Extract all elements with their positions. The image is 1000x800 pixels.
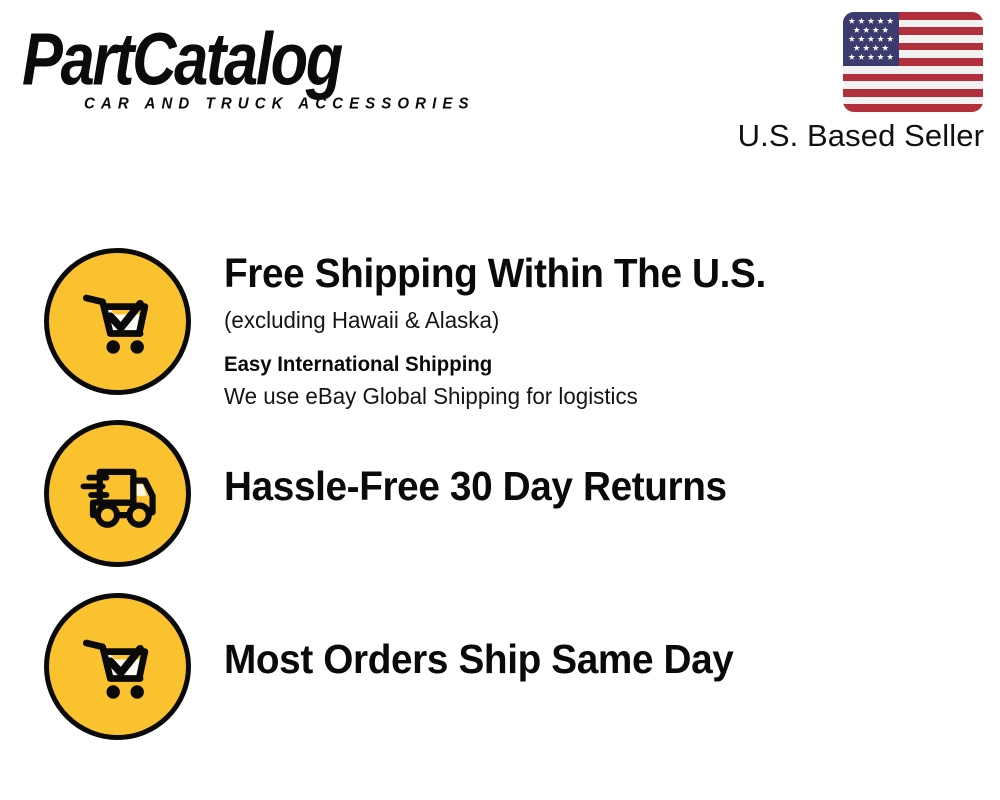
us-flag-icon [843, 12, 983, 112]
feature-title: Hassle-Free 30 Day Returns [224, 463, 727, 510]
delivery-truck-icon [44, 420, 191, 567]
logo-tagline: CAR AND TRUCK ACCESSORIES [84, 96, 475, 112]
shopping-cart-check-icon [44, 593, 191, 740]
feature-row: Free Shipping Within The U.S. (excluding… [44, 248, 964, 411]
feature-text: Free Shipping Within The U.S. (excluding… [191, 248, 797, 411]
flag-star-row [847, 26, 895, 34]
us-flag-graphic [843, 12, 983, 112]
feature-note: (excluding Hawaii & Alaska) [224, 305, 780, 335]
flag-star-row [847, 53, 895, 61]
logo-wordmark: PartCatalog [22, 22, 459, 96]
flag-canton [843, 12, 899, 66]
feature-title: Most Orders Ship Same Day [224, 636, 733, 683]
promo-banner: PartCatalog CAR AND TRUCK ACCESSORIES [0, 0, 1000, 800]
feature-text: Hassle-Free 30 Day Returns [191, 420, 756, 510]
partcatalog-logo[interactable]: PartCatalog CAR AND TRUCK ACCESSORIES [22, 22, 492, 112]
shopping-cart-check-icon [44, 248, 191, 395]
feature-row: Most Orders Ship Same Day [44, 593, 964, 740]
feature-row: Hassle-Free 30 Day Returns [44, 420, 964, 567]
feature-sub-title: Easy International Shipping [224, 351, 780, 379]
flag-star-row [847, 44, 895, 52]
flag-star-grid [843, 12, 899, 66]
flag-star-row [847, 17, 895, 25]
feature-sub-note: We use eBay Global Shipping for logistic… [224, 381, 780, 411]
feature-title: Free Shipping Within The U.S. [224, 250, 766, 297]
us-based-seller-label: U.S. Based Seller [738, 118, 984, 154]
flag-star-row [847, 35, 895, 43]
feature-text: Most Orders Ship Same Day [191, 593, 763, 683]
